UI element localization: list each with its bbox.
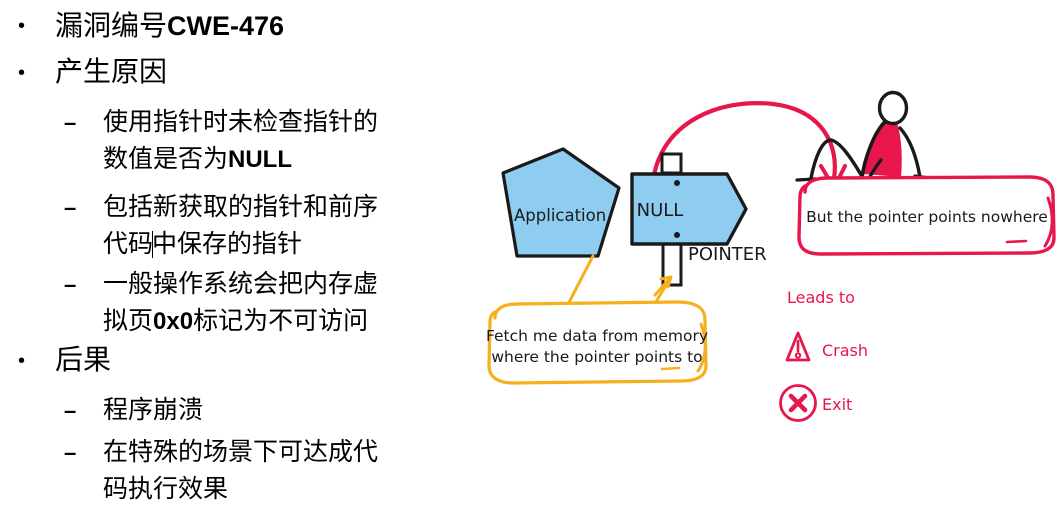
- outcome-item-crash: Crash: [787, 333, 868, 360]
- bullet-marker-dot: •: [14, 53, 55, 93]
- bullet-marker-dash: –: [64, 392, 103, 429]
- sub-bullet-line-2: 码执行效果: [103, 476, 228, 503]
- signpost-pointer-caption: POINTER: [688, 244, 767, 265]
- slide-canvas: • 漏洞编号CWE-476 • 产生原因 – 使用指针时未检查指针的 数值是否为…: [0, 0, 1061, 522]
- null-signpost: NULL POINTER: [632, 154, 767, 285]
- sub-bullet-line-2-latin: NULL: [228, 146, 292, 173]
- sub-bullet-line-1: 使用指针时未检查指针的: [103, 109, 378, 136]
- sub-bullet-line-2: 数值是否为: [103, 146, 228, 173]
- bullet-item-consequence-heading: • 后果: [14, 341, 111, 381]
- bullet-text-cjk: 漏洞编号: [55, 11, 167, 42]
- bullet-text: 漏洞编号CWE-476: [55, 6, 284, 47]
- signpost-null-label: NULL: [637, 200, 684, 221]
- app-bubble-line-2: where the pointer points to: [491, 348, 702, 366]
- sub-bullet-line-2-pre-caret: 代码: [103, 231, 153, 258]
- outcome-item-exit: Exit: [781, 386, 853, 421]
- warning-triangle-icon: [787, 333, 809, 360]
- sub-bullet-line-1: 包括新获取的指针和前序: [103, 194, 378, 221]
- bullet-marker-dash: –: [64, 266, 103, 303]
- pointer-illustration: Application NULL POINTER: [455, 70, 1061, 450]
- sub-bullet-line-2-pre: 拟页: [103, 308, 153, 335]
- leads-to-label: Leads to: [787, 288, 855, 307]
- result-speech-bubble: But the pointer points nowhere: [799, 177, 1054, 254]
- bullet-text-latin: CWE-476: [167, 11, 284, 41]
- sub-bullet-item-new-and-prior-pointers: – 包括新获取的指针和前序 代码中保存的指针: [64, 189, 448, 263]
- bullet-text: 后果: [55, 341, 111, 381]
- sub-bullet-text: 一般操作系统会把内存虚 拟页0x0标记为不可访问: [103, 266, 448, 340]
- bullet-item-cause-heading: • 产生原因: [14, 53, 167, 93]
- sub-bullet-line-2-post: 标记为不可访问: [193, 308, 368, 335]
- sub-bullet-text: 程序崩溃: [103, 392, 448, 429]
- sub-bullet-text: 包括新获取的指针和前序 代码中保存的指针: [103, 189, 448, 263]
- sub-bullet-line-2-latin: 0x0: [153, 308, 193, 335]
- outcomes-group: Leads to Crash Exit: [781, 288, 869, 421]
- bullet-list: • 漏洞编号CWE-476 • 产生原因 – 使用指针时未检查指针的 数值是否为…: [0, 0, 460, 522]
- application-pentagon: Application: [503, 149, 619, 256]
- sub-bullet-item-program-crash: – 程序崩溃: [64, 392, 448, 429]
- bullet-marker-dot: •: [14, 341, 55, 381]
- sub-bullet-line-1: 在特殊的场景下可达成代: [103, 439, 378, 466]
- sub-bullet-item-zero-page: – 一般操作系统会把内存虚 拟页0x0标记为不可访问: [64, 266, 448, 340]
- result-bubble-text: But the pointer points nowhere: [806, 208, 1048, 226]
- outcome-label-crash: Crash: [822, 341, 868, 360]
- bullet-marker-dash: –: [64, 434, 103, 471]
- outcome-label-exit: Exit: [822, 395, 852, 414]
- bullet-marker-dash: –: [64, 189, 103, 226]
- sub-bullet-line-1: 一般操作系统会把内存虚: [103, 271, 378, 298]
- sub-bullet-text: 在特殊的场景下可达成代 码执行效果: [103, 434, 448, 508]
- bullet-text: 产生原因: [55, 53, 167, 93]
- circle-x-icon: [781, 386, 816, 421]
- application-label: Application: [514, 206, 606, 225]
- bullet-marker-dot: •: [14, 6, 55, 46]
- sub-bullet-item-code-execution: – 在特殊的场景下可达成代 码执行效果: [64, 434, 448, 508]
- sub-bullet-text: 使用指针时未检查指针的 数值是否为NULL: [103, 104, 448, 178]
- bullet-item-cwe-id: • 漏洞编号CWE-476: [14, 6, 284, 47]
- sub-bullet-line-2-post-caret: 中保存的指针: [152, 231, 302, 258]
- app-bubble-line-1: Fetch me data from memory: [486, 327, 708, 345]
- sub-bullet-item-unchecked-pointer: – 使用指针时未检查指针的 数值是否为NULL: [64, 104, 448, 178]
- bullet-marker-dash: –: [64, 104, 103, 141]
